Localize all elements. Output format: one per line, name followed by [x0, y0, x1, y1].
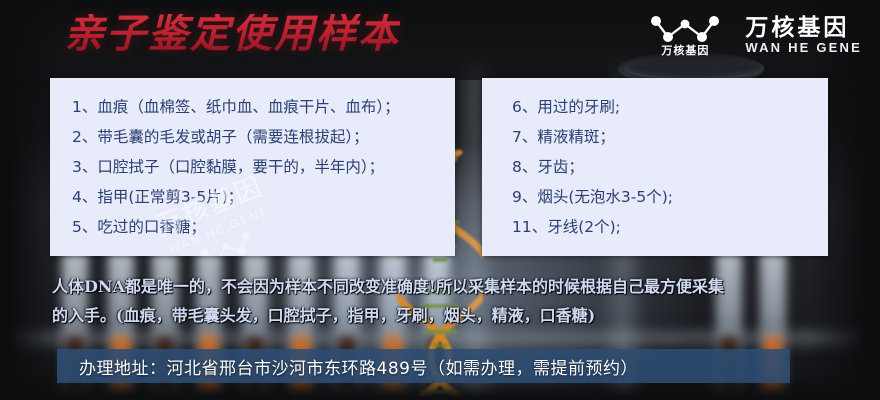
list-item: 9、烟头(无泡水3-5个);: [512, 182, 828, 212]
list-item: 8、牙齿；: [512, 152, 828, 182]
poster-canvas: 亲子鉴定使用样本 万核基因 万核基因: [0, 0, 880, 400]
sample-list-left: 1、血痕（血棉签、纸巾血、血痕干片、血布）； 2、带毛囊的毛发或胡子（需要连根拔…: [50, 78, 455, 242]
list-item: 4、指甲(正常剪3-5片)；: [72, 182, 455, 212]
note-line-1: 人体DNA都是唯一的，不会因为样本不同改变准确度!所以采集样本的时候根据自己最方…: [52, 272, 842, 301]
list-item: 1、血痕（血棉签、纸巾血、血痕干片、血布）；: [72, 92, 455, 122]
sample-list-panel-right: 万核基因 WAN HE GENE 6、用过的牙刷; 7、精液精斑； 8、牙齿； …: [482, 78, 828, 256]
list-item: 11、牙线(2个);: [512, 212, 828, 242]
address-text: 办理地址：河北省邢台市沙河市东环路489号（如需办理，需提前预约）: [57, 354, 638, 379]
brand-name-cn: 万核基因: [745, 15, 862, 41]
list-item: 3、口腔拭子（口腔黏膜，要干的，半年内）；: [72, 152, 455, 182]
note-line-2: 的入手。(血痕，带毛囊头发，口腔拭子，指甲，牙刷，烟头，精液，口香糖): [52, 301, 842, 330]
list-item: 2、带毛囊的毛发或胡子（需要连根拔起）；: [72, 122, 455, 152]
brand-mark: 万核基因: [639, 12, 731, 58]
brand-text: 万核基因 WAN HE GENE: [745, 15, 862, 55]
list-item: 7、精液精斑；: [512, 122, 828, 152]
address-bar: 办理地址：河北省邢台市沙河市东环路489号（如需办理，需提前预约）: [57, 349, 790, 383]
note-paragraph: 人体DNA都是唯一的，不会因为样本不同改变准确度!所以采集样本的时候根据自己最方…: [52, 272, 842, 330]
list-item: 6、用过的牙刷;: [512, 92, 828, 122]
sample-list-panel-left: 万核基因 WAN HE GENE 1、血痕（血棉签、纸巾血、血痕干片、血布）； …: [50, 78, 455, 256]
brand-mark-label: 万核基因: [639, 42, 731, 58]
sample-list-right: 6、用过的牙刷; 7、精液精斑； 8、牙齿； 9、烟头(无泡水3-5个); 11…: [482, 78, 828, 242]
brand-name-en: WAN HE GENE: [745, 41, 862, 56]
brand-logo: 万核基因 万核基因 WAN HE GENE: [639, 12, 862, 58]
list-item: 5、吃过的口香糖；: [72, 212, 455, 242]
page-title: 亲子鉴定使用样本: [64, 14, 400, 54]
molecule-icon: [645, 12, 725, 46]
